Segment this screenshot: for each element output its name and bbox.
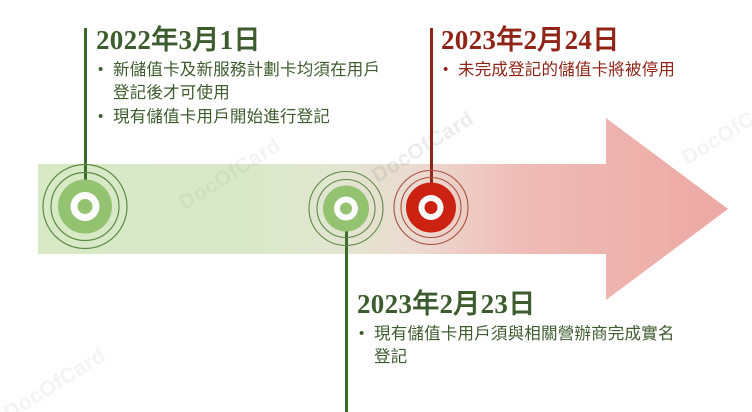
green-ring-marker[interactable]	[305, 168, 387, 255]
green-ring-marker[interactable]	[37, 159, 133, 260]
list-item: 現有儲值卡用戶須與相關營辦商完成實名登記	[357, 323, 687, 369]
milestone-1-block: 2022年3月1日 新儲值卡及新服務計劃卡均須在用戶登記後才可使用 現有儲值卡用…	[96, 25, 396, 130]
milestone-3-block: 2023年2月24日 未完成登記的儲值卡將被停用	[441, 25, 681, 83]
milestone-3-date: 2023年2月24日	[441, 25, 681, 55]
list-item: 未完成登記的儲值卡將被停用	[441, 59, 681, 82]
list-item: 新儲值卡及新服務計劃卡均須在用戶登記後才可使用	[96, 59, 396, 105]
milestone-2-date: 2023年2月23日	[357, 289, 687, 319]
timeline-infographic: DocOfCard DocOfCard DocOfCard DocOfCard	[0, 0, 752, 412]
watermark: DocOfCard	[0, 344, 111, 412]
milestone-2-bullets: 現有儲值卡用戶須與相關營辦商完成實名登記	[357, 323, 687, 369]
milestone-3-bullets: 未完成登記的儲值卡將被停用	[441, 59, 681, 82]
milestone-2-block: 2023年2月23日 現有儲值卡用戶須與相關營辦商完成實名登記	[357, 289, 687, 370]
milestone-1-bullets: 新儲值卡及新服務計劃卡均須在用戶登記後才可使用 現有儲值卡用戶開始進行登記	[96, 59, 396, 129]
red-ring-marker[interactable]	[389, 166, 473, 255]
list-item: 現有儲值卡用戶開始進行登記	[96, 106, 396, 129]
milestone-1-date: 2022年3月1日	[96, 25, 396, 55]
